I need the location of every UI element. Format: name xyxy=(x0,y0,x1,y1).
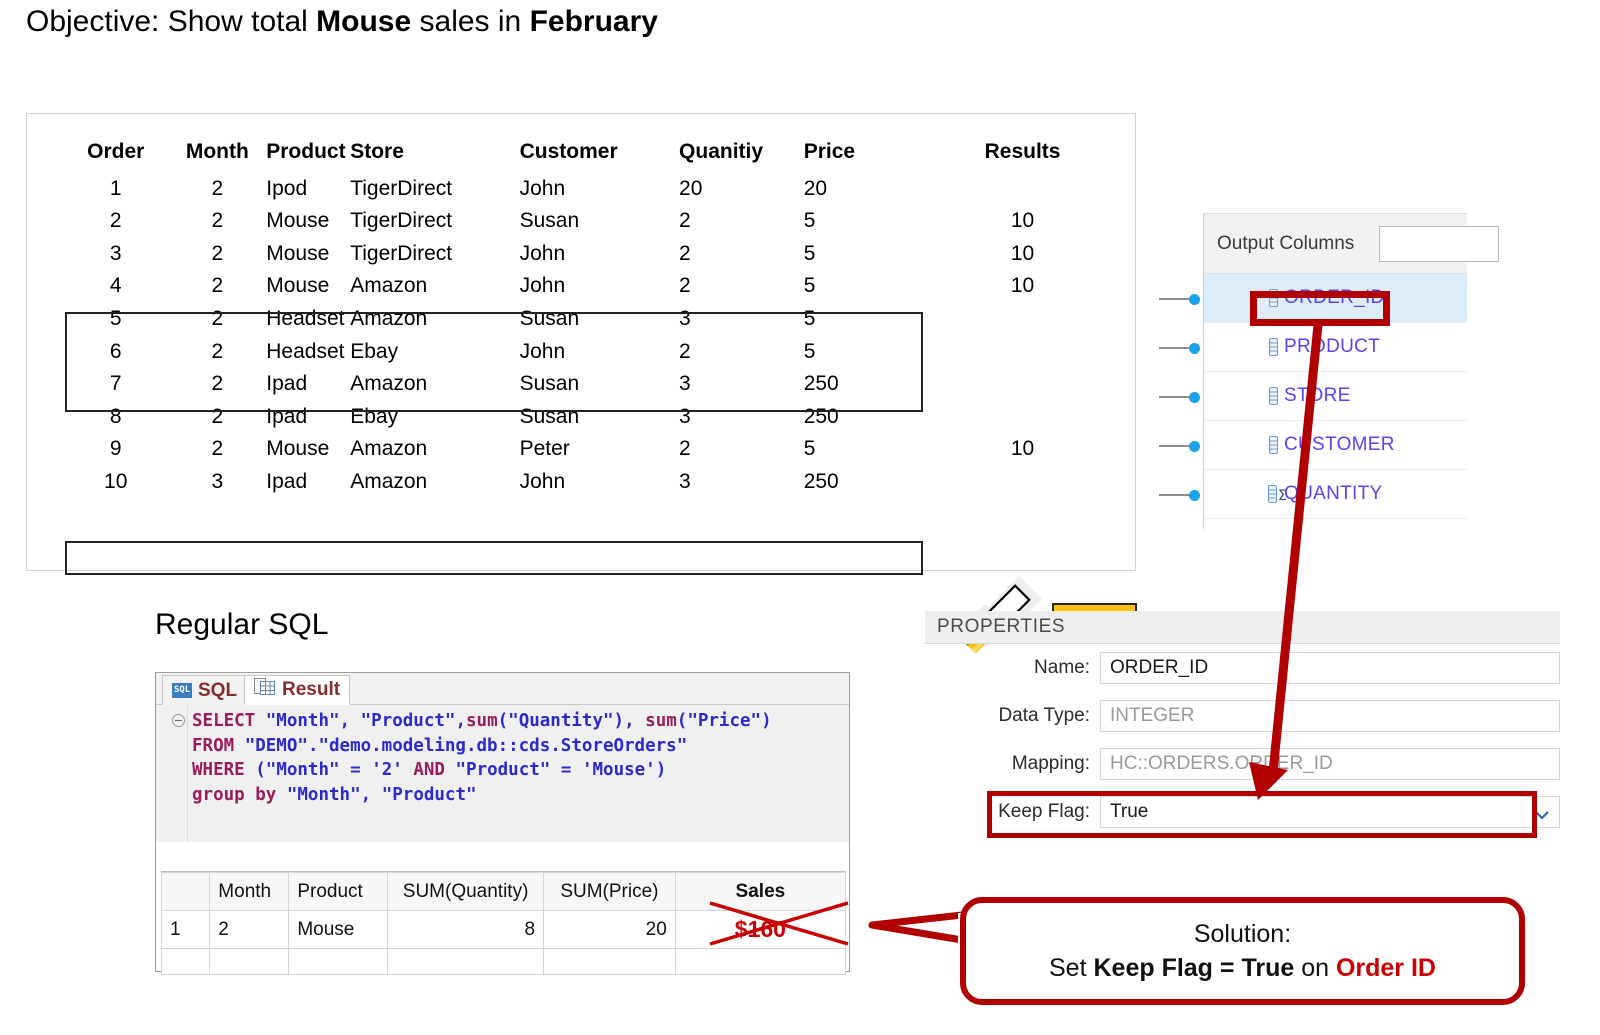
orders-cell-month: 2 xyxy=(174,433,260,466)
solution-callout: Solution: Set Keep Flag = True on Order … xyxy=(960,897,1525,1005)
orders-cell-order: 3 xyxy=(57,238,174,271)
orders-cell-result xyxy=(918,173,1127,206)
connector-port[interactable] xyxy=(1159,395,1204,399)
result-cell-empty xyxy=(544,949,676,975)
orders-cell-customer: John xyxy=(520,238,679,271)
orders-cell-product: Ipad xyxy=(260,466,350,499)
property-value: INTEGER xyxy=(1110,705,1194,727)
output-columns-title: Output Columns xyxy=(1217,233,1354,255)
orders-cell-price: 250 xyxy=(804,401,918,434)
property-row-mapping: Mapping:HC::ORDERS.ORDER_ID xyxy=(925,740,1560,788)
orders-cell-quantity: 2 xyxy=(679,336,804,369)
connector-port[interactable] xyxy=(1159,493,1204,497)
orders-cell-product: Headset xyxy=(260,336,350,369)
tab-sql-label: SQL xyxy=(198,680,237,702)
svg-text:Σ: Σ xyxy=(1278,488,1287,504)
result-grid-icon xyxy=(254,678,276,702)
annotation-box-keep-flag xyxy=(987,791,1537,838)
orders-cell-customer: John xyxy=(520,270,679,303)
column-header-customer: Customer xyxy=(520,136,679,173)
orders-cell-product: Mouse xyxy=(260,205,350,238)
orders-cell-month: 2 xyxy=(174,270,260,303)
result-col-product: Product xyxy=(289,873,388,911)
callout-line-2: Set Keep Flag = True on Order ID xyxy=(1049,954,1436,983)
callout-tail xyxy=(872,913,972,943)
callout-on-text: on xyxy=(1294,954,1336,982)
column-header-store: Store xyxy=(350,136,519,173)
orders-cell-product: Ipad xyxy=(260,401,350,434)
property-row-data-type: Data Type:INTEGER xyxy=(925,692,1560,740)
orders-cell-price: 5 xyxy=(804,303,918,336)
column-header-month: Month xyxy=(174,136,260,173)
annotation-box-order-id xyxy=(1250,291,1390,326)
result-cell-empty xyxy=(162,949,210,975)
orders-cell-quantity: 20 xyxy=(679,173,804,206)
orders-cell-quantity: 2 xyxy=(679,238,804,271)
table-row: 92MouseAmazonPeter2510 xyxy=(57,433,1127,466)
orders-cell-product: Mouse xyxy=(260,433,350,466)
orders-cell-order: 10 xyxy=(57,466,174,499)
objective-middle: sales in xyxy=(411,5,529,38)
objective-bold-product: Mouse xyxy=(316,5,411,38)
orders-cell-price: 250 xyxy=(804,466,918,499)
orders-cell-customer: Peter xyxy=(520,433,679,466)
result-cell-empty xyxy=(210,949,289,975)
orders-cell-price: 5 xyxy=(804,433,918,466)
orders-cell-price: 5 xyxy=(804,270,918,303)
orders-cell-order: 6 xyxy=(57,336,174,369)
sql-result-grid: Month Product SUM(Quantity) SUM(Price) S… xyxy=(161,871,846,968)
orders-cell-product: Mouse xyxy=(260,238,350,271)
orders-cell-month: 2 xyxy=(174,336,260,369)
output-column-label: CUSTOMER xyxy=(1284,434,1395,456)
orders-data-card: Order Month Product Store Customer Quani… xyxy=(26,113,1136,571)
tab-result-label: Result xyxy=(282,679,340,701)
orders-cell-result: 10 xyxy=(918,270,1127,303)
connector-port[interactable] xyxy=(1159,346,1204,350)
orders-cell-quantity: 2 xyxy=(679,433,804,466)
orders-cell-store: TigerDirect xyxy=(350,238,519,271)
result-cell-idx: 1 xyxy=(162,911,210,949)
orders-cell-product: Ipod xyxy=(260,173,350,206)
callout-set-text: Set xyxy=(1049,954,1093,982)
output-column-row-quantity[interactable]: ΣQUANTITY xyxy=(1204,470,1467,519)
result-col-index xyxy=(162,873,210,911)
column-header-product: Product xyxy=(260,136,350,173)
output-column-label: STORE xyxy=(1284,385,1351,407)
callout-order-id-text: Order ID xyxy=(1336,954,1436,982)
result-cell-empty xyxy=(388,949,544,975)
result-cell-sum-quantity: 8 xyxy=(388,911,544,949)
orders-cell-customer: John xyxy=(520,466,679,499)
orders-cell-order: 1 xyxy=(57,173,174,206)
orders-cell-month: 2 xyxy=(174,303,260,336)
orders-cell-result: 10 xyxy=(918,433,1127,466)
orders-cell-store: Amazon xyxy=(350,368,519,401)
orders-table-header-row: Order Month Product Store Customer Quani… xyxy=(57,136,1127,173)
orders-cell-price: 5 xyxy=(804,205,918,238)
sql-gutter xyxy=(156,705,188,842)
sql-icon: SQL xyxy=(172,683,192,698)
table-row: 62HeadsetEbayJohn25 xyxy=(57,336,1127,369)
result-cell-month: 2 xyxy=(210,911,289,949)
result-col-month: Month xyxy=(210,873,289,911)
property-row-name: Name:ORDER_ID xyxy=(925,644,1560,692)
result-header-row: Month Product SUM(Quantity) SUM(Price) S… xyxy=(162,873,846,911)
table-row: 32MouseTigerDirectJohn2510 xyxy=(57,238,1127,271)
connector-port[interactable] xyxy=(1159,297,1204,301)
output-columns-header: Output Columns xyxy=(1204,214,1467,274)
orders-cell-order: 9 xyxy=(57,433,174,466)
orders-cell-quantity: 2 xyxy=(679,205,804,238)
property-value: HC::ORDERS.ORDER_ID xyxy=(1110,753,1333,775)
orders-cell-month: 2 xyxy=(174,173,260,206)
orders-cell-store: Amazon xyxy=(350,270,519,303)
orders-cell-month: 2 xyxy=(174,368,260,401)
connector-port[interactable] xyxy=(1159,444,1204,448)
orders-cell-quantity: 3 xyxy=(679,368,804,401)
orders-cell-customer: Susan xyxy=(520,303,679,336)
orders-cell-order: 4 xyxy=(57,270,174,303)
orders-cell-store: Amazon xyxy=(350,433,519,466)
regular-sql-heading: Regular SQL xyxy=(155,608,328,642)
result-cell-sum-price: 20 xyxy=(544,911,676,949)
orders-cell-customer: Susan xyxy=(520,368,679,401)
orders-cell-product: Ipad xyxy=(260,368,350,401)
orders-cell-order: 5 xyxy=(57,303,174,336)
attribute-column-icon xyxy=(1267,435,1281,460)
orders-cell-result xyxy=(918,368,1127,401)
orders-cell-result: 10 xyxy=(918,205,1127,238)
output-columns-search-input[interactable] xyxy=(1379,226,1499,262)
orders-cell-result xyxy=(918,466,1127,499)
property-label: Name: xyxy=(925,657,1100,679)
result-col-sum-price: SUM(Price) xyxy=(544,873,676,911)
result-cell-sales: $160 xyxy=(675,911,845,949)
orders-cell-customer: John xyxy=(520,336,679,369)
sql-result-table: Month Product SUM(Quantity) SUM(Price) S… xyxy=(161,872,846,975)
objective-bold-month: February xyxy=(530,5,658,38)
orders-cell-store: Ebay xyxy=(350,401,519,434)
property-label: Mapping: xyxy=(925,753,1100,775)
column-header-results: Results xyxy=(918,136,1127,173)
sql-editor-panel: SQL SQL Result SELECT "Month", "Product"… xyxy=(155,672,850,972)
orders-cell-order: 7 xyxy=(57,368,174,401)
code-fold-icon[interactable] xyxy=(172,714,185,727)
sql-tabstrip: SQL SQL Result xyxy=(156,673,849,705)
orders-cell-quantity: 3 xyxy=(679,401,804,434)
property-value: ORDER_ID xyxy=(1110,657,1208,679)
tab-sql[interactable]: SQL SQL xyxy=(162,675,247,705)
attribute-column-icon xyxy=(1267,386,1281,411)
output-column-row-store[interactable]: STORE xyxy=(1204,372,1467,421)
result-row: 12Mouse820$160 xyxy=(162,911,846,949)
properties-header: PROPERTIES xyxy=(925,611,1560,644)
attribute-column-icon xyxy=(1267,337,1281,362)
output-column-label: QUANTITY xyxy=(1284,483,1382,505)
callout-line-1: Solution: xyxy=(1194,920,1291,949)
orders-cell-price: 5 xyxy=(804,238,918,271)
output-column-row-customer[interactable]: CUSTOMER xyxy=(1204,421,1467,470)
orders-cell-result xyxy=(918,336,1127,369)
table-row: 22MouseTigerDirectSusan2510 xyxy=(57,205,1127,238)
output-columns-panel: Output Columns ORDER_IDPRODUCTSTORECUSTO… xyxy=(1203,213,1467,529)
property-field-name[interactable]: ORDER_ID xyxy=(1100,652,1560,684)
orders-cell-month: 2 xyxy=(174,238,260,271)
table-row: 82IpadEbaySusan3250 xyxy=(57,401,1127,434)
orders-cell-quantity: 3 xyxy=(679,466,804,499)
orders-cell-price: 20 xyxy=(804,173,918,206)
orders-table: Order Month Product Store Customer Quani… xyxy=(57,136,1127,499)
orders-cell-customer: Susan xyxy=(520,401,679,434)
orders-cell-store: TigerDirect xyxy=(350,205,519,238)
orders-cell-order: 8 xyxy=(57,401,174,434)
column-header-order: Order xyxy=(57,136,174,173)
table-row: 42MouseAmazonJohn2510 xyxy=(57,270,1127,303)
result-row-empty xyxy=(162,949,846,975)
column-header-price: Price xyxy=(804,136,918,173)
sql-code-area[interactable]: SELECT "Month", "Product",sum("Quantity"… xyxy=(156,705,849,842)
orders-cell-quantity: 3 xyxy=(679,303,804,336)
orders-cell-product: Mouse xyxy=(260,270,350,303)
orders-cell-result xyxy=(918,401,1127,434)
table-row: 103IpadAmazonJohn3250 xyxy=(57,466,1127,499)
table-row: 52HeadsetAmazonSusan35 xyxy=(57,303,1127,336)
orders-cell-result xyxy=(918,303,1127,336)
table-row: 72IpadAmazonSusan3250 xyxy=(57,368,1127,401)
objective-prefix: Objective: Show total xyxy=(26,5,316,38)
callout-keepflag-text: Keep Flag = True xyxy=(1093,954,1294,982)
orders-cell-month: 2 xyxy=(174,401,260,434)
result-cell-product: Mouse xyxy=(289,911,388,949)
orders-cell-store: TigerDirect xyxy=(350,173,519,206)
result-col-sales: Sales xyxy=(675,873,845,911)
column-header-quantity: Quanitiy xyxy=(679,136,804,173)
property-field-mapping: HC::ORDERS.ORDER_ID xyxy=(1100,748,1560,780)
sql-code-text: SELECT "Month", "Product",sum("Quantity"… xyxy=(192,709,852,807)
orders-cell-month: 2 xyxy=(174,205,260,238)
orders-cell-month: 3 xyxy=(174,466,260,499)
measure-column-icon: Σ xyxy=(1267,484,1294,509)
orders-cell-order: 2 xyxy=(57,205,174,238)
tab-result[interactable]: Result xyxy=(244,675,350,705)
result-cell-empty xyxy=(675,949,845,975)
highlight-box-mouse-row-9 xyxy=(65,541,923,575)
orders-cell-quantity: 2 xyxy=(679,270,804,303)
orders-cell-customer: Susan xyxy=(520,205,679,238)
page-title: Objective: Show total Mouse sales in Feb… xyxy=(26,5,658,39)
orders-cell-price: 250 xyxy=(804,368,918,401)
property-field-data-type: INTEGER xyxy=(1100,700,1560,732)
output-column-label: PRODUCT xyxy=(1284,336,1380,358)
orders-cell-store: Amazon xyxy=(350,303,519,336)
orders-cell-customer: John xyxy=(520,173,679,206)
result-cell-empty xyxy=(289,949,388,975)
property-label: Data Type: xyxy=(925,705,1100,727)
orders-cell-store: Amazon xyxy=(350,466,519,499)
orders-cell-product: Headset xyxy=(260,303,350,336)
orders-cell-store: Ebay xyxy=(350,336,519,369)
table-row: 12IpodTigerDirectJohn2020 xyxy=(57,173,1127,206)
orders-cell-result: 10 xyxy=(918,238,1127,271)
output-column-row-product[interactable]: PRODUCT xyxy=(1204,323,1467,372)
result-col-sum-quantity: SUM(Quantity) xyxy=(388,873,544,911)
orders-cell-price: 5 xyxy=(804,336,918,369)
